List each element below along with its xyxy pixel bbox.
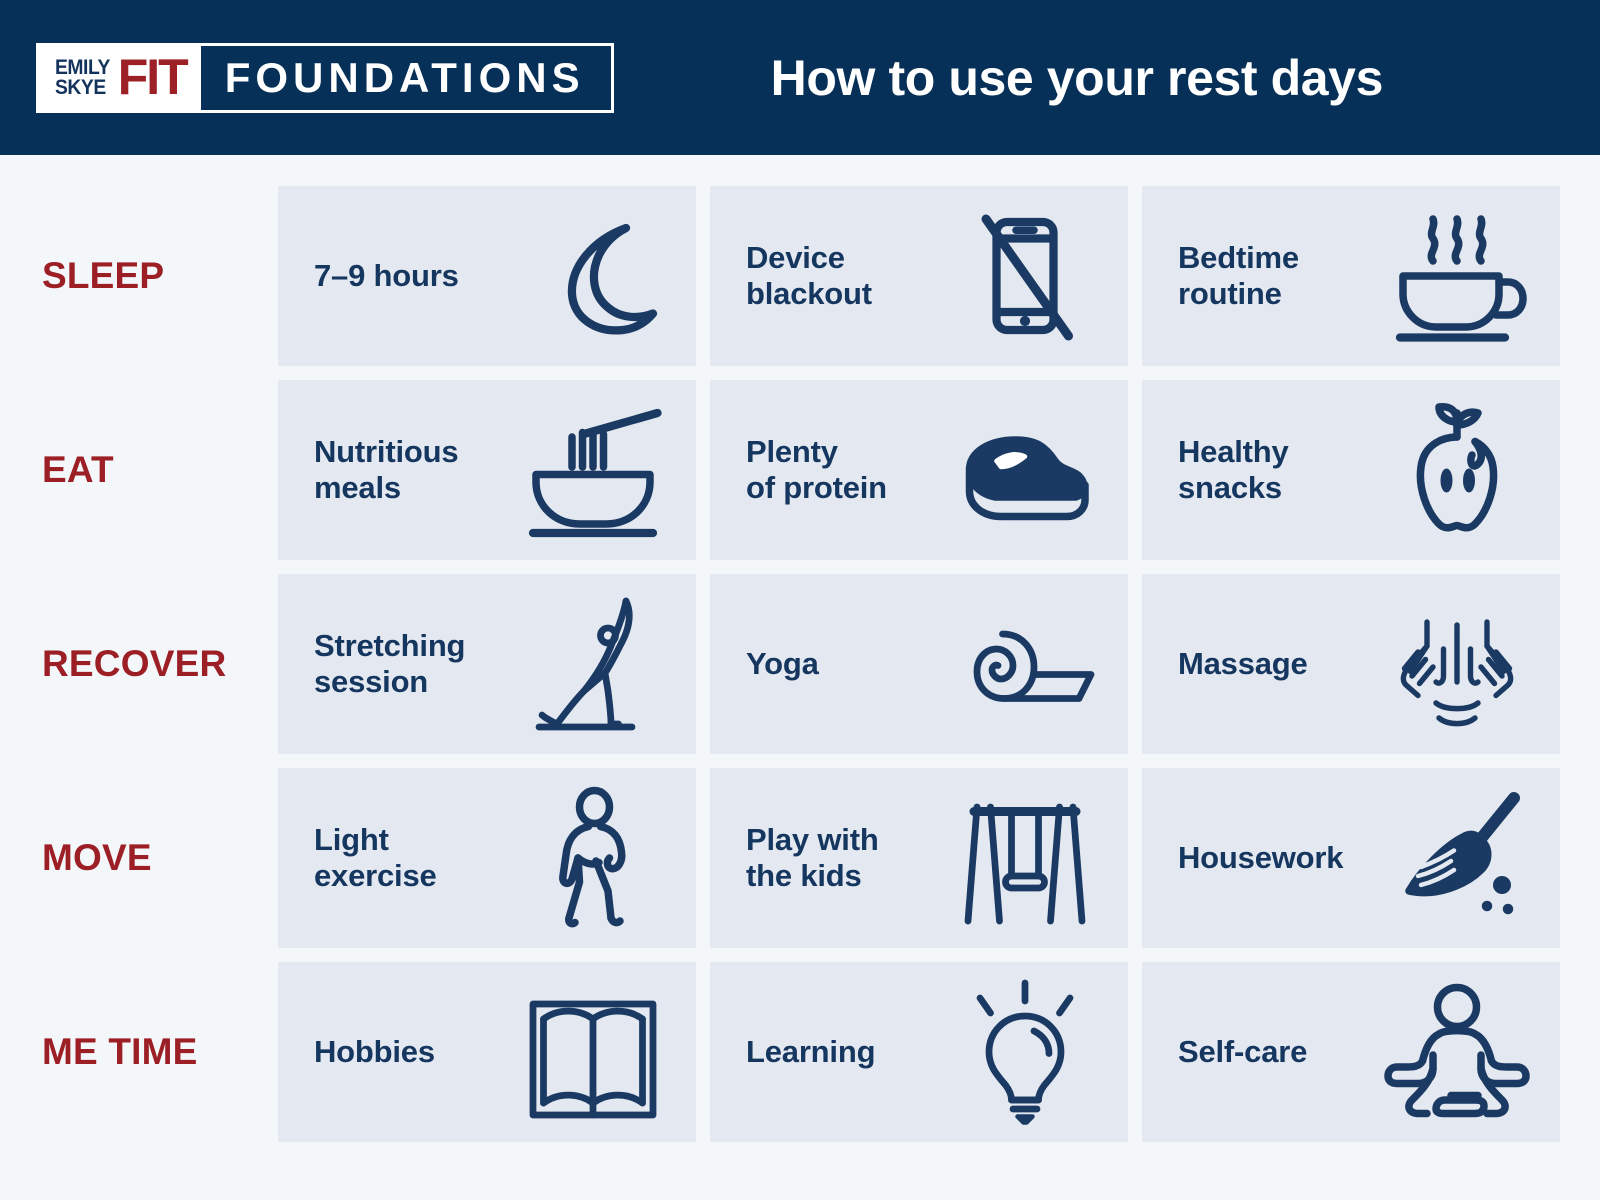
row-cards-move: Light exercise Play with the kids bbox=[278, 768, 1560, 948]
row-label-me-time: ME TIME bbox=[0, 962, 278, 1142]
page-title: How to use your rest days bbox=[614, 49, 1560, 107]
massage-hands-icon bbox=[1382, 589, 1532, 739]
card-label: Self-care bbox=[1178, 1034, 1382, 1070]
card-self-care[interactable]: Self-care bbox=[1142, 962, 1560, 1142]
card-label: Light exercise bbox=[314, 822, 518, 894]
card-light-exercise[interactable]: Light exercise bbox=[278, 768, 696, 948]
category-row-recover: RECOVER Stretching session bbox=[0, 574, 1560, 754]
card-plenty-of-protein[interactable]: Plenty of protein bbox=[710, 380, 1128, 560]
logo-program-name: FOUNDATIONS bbox=[201, 46, 611, 110]
card-label: 7–9 hours bbox=[314, 258, 518, 294]
rest-day-grid: SLEEP 7–9 hours Device blackout bbox=[0, 155, 1600, 1142]
yoga-mat-icon bbox=[950, 589, 1100, 739]
noodle-bowl-icon bbox=[518, 395, 668, 545]
card-healthy-snacks[interactable]: Healthy snacks bbox=[1142, 380, 1560, 560]
row-cards-recover: Stretching session Yoga bbox=[278, 574, 1560, 754]
card-play-with-the-kids[interactable]: Play with the kids bbox=[710, 768, 1128, 948]
card-stretching-session[interactable]: Stretching session bbox=[278, 574, 696, 754]
steak-icon bbox=[950, 395, 1100, 545]
category-row-sleep: SLEEP 7–9 hours Device blackout bbox=[0, 186, 1560, 366]
card-label: Massage bbox=[1178, 646, 1382, 682]
card-housework[interactable]: Housework bbox=[1142, 768, 1560, 948]
card-label: Bedtime routine bbox=[1178, 240, 1382, 312]
row-label-recover: RECOVER bbox=[0, 574, 278, 754]
phone-off-icon bbox=[950, 201, 1100, 351]
logo-line-2: SKYE bbox=[55, 78, 110, 97]
row-cards-sleep: 7–9 hours Device blackout bbox=[278, 186, 1560, 366]
swing-set-icon bbox=[950, 783, 1100, 933]
card-label: Hobbies bbox=[314, 1034, 518, 1070]
open-book-icon bbox=[518, 977, 668, 1127]
card-massage[interactable]: Massage bbox=[1142, 574, 1560, 754]
card-yoga[interactable]: Yoga bbox=[710, 574, 1128, 754]
logo-fit-text: FIT bbox=[118, 57, 187, 98]
card-label: Plenty of protein bbox=[746, 434, 950, 506]
stretching-person-icon bbox=[518, 589, 668, 739]
broom-icon bbox=[1382, 783, 1532, 933]
category-row-me-time: ME TIME Hobbies bbox=[0, 962, 1560, 1142]
row-cards-me-time: Hobbies Learning bbox=[278, 962, 1560, 1142]
walking-person-icon bbox=[518, 783, 668, 933]
card-learning[interactable]: Learning bbox=[710, 962, 1128, 1142]
brand-logo: EMILY SKYE FIT FOUNDATIONS bbox=[36, 43, 614, 113]
row-label-eat: EAT bbox=[0, 380, 278, 560]
card-label: Housework bbox=[1178, 840, 1382, 876]
card-7-9-hours[interactable]: 7–9 hours bbox=[278, 186, 696, 366]
card-label: Learning bbox=[746, 1034, 950, 1070]
page-header: EMILY SKYE FIT FOUNDATIONS How to use yo… bbox=[0, 0, 1600, 155]
lightbulb-icon bbox=[950, 977, 1100, 1127]
hot-drink-cup-icon bbox=[1382, 201, 1532, 351]
card-device-blackout[interactable]: Device blackout bbox=[710, 186, 1128, 366]
card-label: Healthy snacks bbox=[1178, 434, 1382, 506]
card-label: Yoga bbox=[746, 646, 950, 682]
logo-stack: EMILY SKYE FIT bbox=[55, 57, 187, 98]
card-label: Device blackout bbox=[746, 240, 950, 312]
row-label-sleep: SLEEP bbox=[0, 186, 278, 366]
crescent-moon-icon bbox=[518, 201, 668, 351]
row-cards-eat: Nutritious meals Plenty of protein bbox=[278, 380, 1560, 560]
logo-wordmark: EMILY SKYE bbox=[55, 58, 115, 97]
category-row-move: MOVE Light exercise bbox=[0, 768, 1560, 948]
logo-mark: EMILY SKYE FIT bbox=[39, 46, 201, 110]
card-bedtime-routine[interactable]: Bedtime routine bbox=[1142, 186, 1560, 366]
category-row-eat: EAT Nutritious meals Plen bbox=[0, 380, 1560, 560]
apple-core-icon bbox=[1382, 395, 1532, 545]
card-label: Nutritious meals bbox=[314, 434, 518, 506]
card-hobbies[interactable]: Hobbies bbox=[278, 962, 696, 1142]
row-label-move: MOVE bbox=[0, 768, 278, 948]
card-nutritious-meals[interactable]: Nutritious meals bbox=[278, 380, 696, 560]
card-label: Play with the kids bbox=[746, 822, 950, 894]
card-label: Stretching session bbox=[314, 628, 518, 700]
meditating-person-icon bbox=[1382, 977, 1532, 1127]
